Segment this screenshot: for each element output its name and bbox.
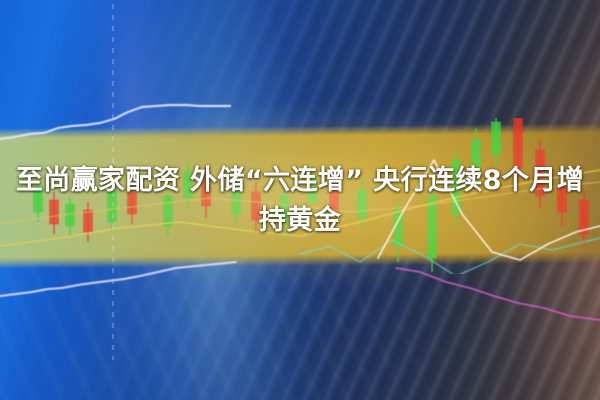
headline-text: 至尚赢家配资 外储“六连增” 央行连续8个月增持黄金: [12, 161, 588, 241]
news-banner-image: 至尚赢家配资 外储“六连增” 央行连续8个月增持黄金: [0, 0, 600, 400]
